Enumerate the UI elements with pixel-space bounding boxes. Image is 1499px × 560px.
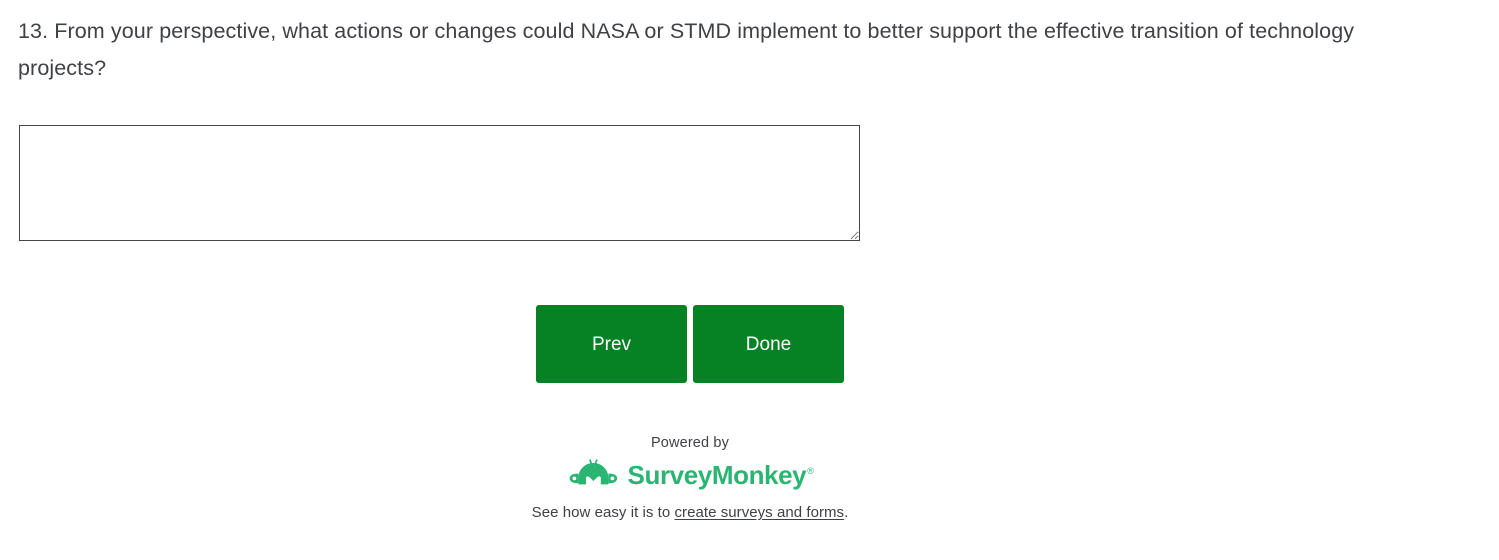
footer-tagline: See how easy it is to create surveys and… [532, 503, 849, 523]
prev-button[interactable]: Prev [536, 305, 687, 383]
surveymonkey-wordmark: SurveyMonkey® [628, 462, 814, 488]
question-block: 13. From your perspective, what actions … [18, 13, 1358, 87]
question-text: 13. From your perspective, what actions … [18, 13, 1358, 87]
answer-textarea[interactable] [19, 125, 860, 241]
footer: Powered by [0, 433, 1380, 523]
surveymonkey-wordmark-text: SurveyMonkey [628, 460, 807, 490]
registered-trademark-icon: ® [807, 466, 813, 476]
navigation-button-row: Prev Done [0, 305, 1380, 383]
powered-by-label: Powered by [651, 433, 729, 453]
create-surveys-link[interactable]: create surveys and forms [675, 504, 845, 521]
survey-page: 13. From your perspective, what actions … [0, 0, 1499, 560]
done-button[interactable]: Done [693, 305, 844, 383]
footer-tagline-suffix: . [844, 504, 848, 521]
answer-field-wrapper [19, 125, 860, 241]
footer-tagline-prefix: See how easy it is to [532, 504, 675, 521]
surveymonkey-logo-icon [567, 458, 619, 493]
surveymonkey-brand: SurveyMonkey® [567, 458, 814, 492]
